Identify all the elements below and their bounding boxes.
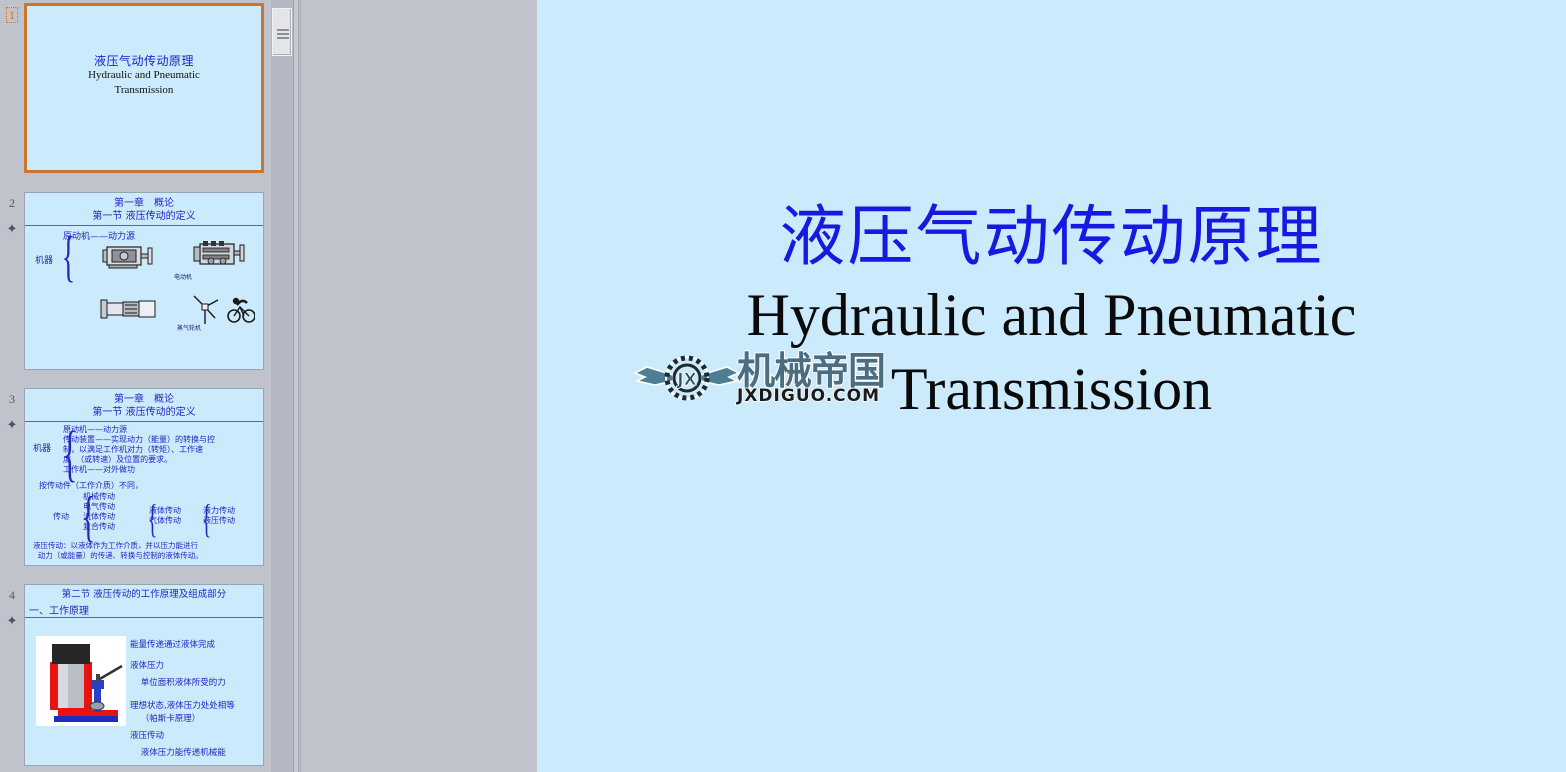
slide-2-divider	[25, 225, 263, 226]
slide-4-divider	[25, 617, 263, 618]
slide-4-line-7: 液体压力能传递机械能	[130, 748, 226, 759]
slide-number-2: 2	[9, 196, 15, 210]
watermark: JX 机械帝国 JXDIGUO.COM	[633, 348, 933, 408]
slide-4-line-5: （帕斯卡原理）	[130, 714, 200, 725]
slide-4-preview[interactable]: 第二节 液压传动的工作原理及组成部分 一、工作原理	[24, 584, 264, 766]
slide-number-1: 1	[6, 7, 18, 23]
winged-gear-logo-icon: JX	[633, 351, 741, 405]
slide-3-transmission-label: 传动	[53, 511, 69, 522]
slide-1-gutter: 1	[0, 6, 24, 24]
watermark-brand-url: JXDIGUO.COM	[737, 387, 885, 405]
slide-4-line-1: 能量传递通过液体完成	[130, 640, 215, 651]
electric-motor-icon: 电动机	[99, 241, 155, 271]
slide-4-line-4: 理想状态,液体压力处处相等	[130, 701, 235, 712]
slide-3-fluid-label: 液体传动 气体传动	[149, 506, 181, 526]
main-title-en-line1: Hydraulic and Pneumatic	[537, 278, 1566, 352]
thumbnail-slide-1[interactable]: 1 液压气动传动原理 Hydraulic and Pneumatic Trans…	[0, 0, 270, 180]
scrollbar-grip-line	[277, 29, 289, 31]
svg-text:JX: JX	[676, 370, 696, 390]
thumbnail-slide-2[interactable]: 2 ✦ 第一章 概论 第一节 液压传动的定义 原动机——动力源 机器 {	[0, 190, 270, 370]
slide-1-title-en-line2: Transmission	[27, 83, 261, 98]
slide-4-line-3: 单位面积液体所受的力	[130, 678, 226, 689]
slide-1-title-en-line1: Hydraulic and Pneumatic	[27, 68, 261, 83]
scrollbar-grip-line	[277, 37, 289, 39]
animation-star-icon-4: ✦	[0, 614, 24, 628]
slide-thumbnail-pane[interactable]: 1 液压气动传动原理 Hydraulic and Pneumatic Trans…	[0, 0, 270, 772]
workspace-background	[300, 0, 537, 772]
slide-4-head-line2: 一、工作原理	[29, 602, 89, 617]
steam-turbine-icon: 蒸气轮机	[99, 296, 159, 322]
slide-4-line-2: 液体压力	[130, 661, 164, 672]
combustion-engine-icon: 内燃机	[191, 239, 247, 271]
slide-1-preview[interactable]: 液压气动传动原理 Hydraulic and Pneumatic Transmi…	[24, 3, 264, 173]
slide-3-list-transmission: 机械传动 电气传动 流体传动 复合传动	[83, 492, 115, 532]
scrollbar-grip-line	[277, 33, 289, 35]
hydraulic-jack-diagram	[36, 636, 126, 726]
thumbnail-slide-4[interactable]: 4 ✦ 第二节 液压传动的工作原理及组成部分 一、工作原理	[0, 582, 270, 768]
slide-3-machine-label: 机器	[33, 441, 51, 454]
slide-3-head-line1: 第一章 概论	[25, 393, 263, 406]
slide-3-gutter: 3 ✦	[0, 390, 24, 432]
slide-4-line-6: 液压传动	[130, 731, 164, 742]
slide-2-gutter: 2 ✦	[0, 194, 24, 236]
pane-splitter[interactable]	[293, 0, 299, 772]
slide-3-header: 第一章 概论 第一节 液压传动的定义	[25, 393, 263, 419]
slide-2-header: 第一章 概论 第一节 液压传动的定义	[25, 197, 263, 223]
animation-star-icon-3: ✦	[0, 418, 24, 432]
scrollbar-thumb[interactable]	[272, 8, 292, 56]
thumbnail-pane-scrollbar[interactable]	[271, 0, 293, 772]
slide-3-preview[interactable]: 第一章 概论 第一节 液压传动的定义 机器 { 原动机——动力源 传动装置——实…	[24, 388, 264, 566]
wind-turbine-bicycle-icon: 其它形式	[191, 291, 255, 325]
wind-turbine-bicycle-caption: 其它形式	[255, 326, 264, 335]
slide-number-4: 4	[9, 588, 15, 602]
slide-4-gutter: 4 ✦	[0, 586, 24, 628]
animation-star-icon-2: ✦	[0, 222, 24, 236]
main-title-cn: 液压气动传动原理	[537, 196, 1566, 278]
combustion-engine-caption: 内燃机	[247, 272, 264, 281]
thumbnail-slide-3[interactable]: 3 ✦ 第一章 概论 第一节 液压传动的定义 机器 { 原动机——动力源 传动装…	[0, 386, 270, 566]
slide-3-hydraulic-label: 液力传动 液压传动	[203, 506, 235, 526]
slide-2-brace: {	[62, 229, 75, 285]
slide-1-title-cn: 液压气动传动原理	[27, 52, 261, 69]
slide-1-title-en: Hydraulic and Pneumatic Transmission	[27, 68, 261, 98]
main-slide-canvas[interactable]: 液压气动传动原理 Hydraulic and Pneumatic Transmi…	[537, 0, 1566, 772]
slide-3-divider	[25, 421, 263, 422]
slide-3-body-block1: 原动机——动力源 传动装置——实现动力（能量）的转换与控 制，以满足工作机对力（…	[63, 425, 215, 475]
powerpoint-window: 1 液压气动传动原理 Hydraulic and Pneumatic Trans…	[0, 0, 1566, 772]
slide-4-header: 第二节 液压传动的工作原理及组成部分	[25, 588, 263, 601]
slide-2-preview[interactable]: 第一章 概论 第一节 液压传动的定义 原动机——动力源 机器 {	[24, 192, 264, 370]
slide-3-head-line2: 第一节 液压传动的定义	[25, 406, 263, 419]
slide-number-3: 3	[9, 392, 15, 406]
watermark-brand-cn: 机械帝国	[737, 351, 885, 391]
slide-2-head-line1: 第一章 概论	[25, 197, 263, 210]
slide-3-body-block3: 液压传动：以液体作为工作介质，并以压力能进行 动力（或能量）的传递、转换与控制的…	[33, 541, 203, 560]
slide-2-head-line2: 第一节 液压传动的定义	[25, 210, 263, 223]
slide-2-machine-label: 机器	[35, 253, 53, 266]
electric-motor-caption: 电动机	[155, 272, 211, 281]
watermark-text: 机械帝国 JXDIGUO.COM	[737, 351, 885, 405]
slide-4-head-line1: 第二节 液压传动的工作原理及组成部分	[25, 588, 263, 601]
